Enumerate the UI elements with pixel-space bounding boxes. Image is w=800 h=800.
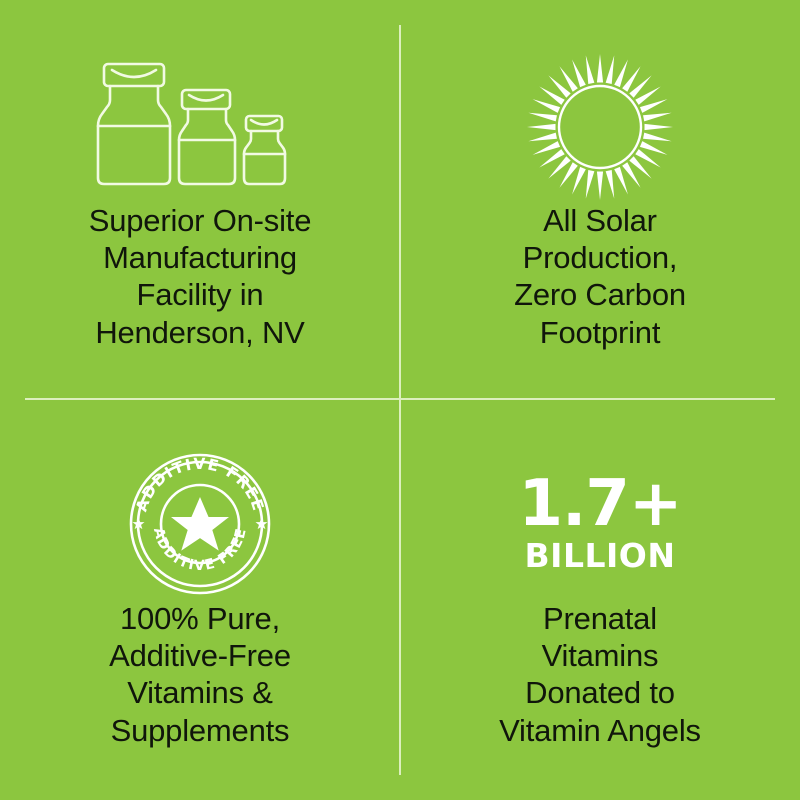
sun-ray xyxy=(643,110,672,122)
benefit-caption-manufacturing: Superior On-site Manufacturing Facility … xyxy=(89,202,312,351)
sun-ray xyxy=(643,133,672,145)
sun-ray xyxy=(597,172,603,201)
sun-ray xyxy=(527,124,556,130)
benefit-cell-additive-free: ADDITIVE FREE ADDITIVE FREE 100% Pure, A… xyxy=(0,400,400,800)
additive-free-badge-icon: ADDITIVE FREE ADDITIVE FREE xyxy=(125,449,275,599)
supplement-bottles-icon xyxy=(90,52,310,202)
sun-ray xyxy=(606,55,618,84)
sun-ray xyxy=(583,55,595,84)
donation-stat: 1.7+ BILLION xyxy=(519,448,682,600)
sun-ray xyxy=(606,170,618,199)
supplement-bottles-icon-wrap xyxy=(90,52,310,202)
benefit-caption-additive-free: 100% Pure, Additive-Free Vitamins & Supp… xyxy=(109,600,291,749)
benefits-panel: Superior On-site Manufacturing Facility … xyxy=(0,0,800,800)
additive-free-badge-icon-wrap: ADDITIVE FREE ADDITIVE FREE xyxy=(125,448,275,600)
benefit-cell-donations: 1.7+ BILLION Prenatal Vitamins Donated t… xyxy=(400,400,800,800)
sun-ray xyxy=(528,133,557,145)
sun-icon-wrap xyxy=(525,52,675,202)
sun-ray xyxy=(597,54,603,83)
benefit-caption-donations: Prenatal Vitamins Donated to Vitamin Ang… xyxy=(499,600,701,749)
benefit-caption-solar: All Solar Production, Zero Carbon Footpr… xyxy=(514,202,686,351)
sun-icon xyxy=(525,52,675,202)
sun-ray xyxy=(583,170,595,199)
benefits-grid: Superior On-site Manufacturing Facility … xyxy=(0,0,800,800)
star-icon-center xyxy=(171,497,229,551)
donation-stat-number: 1.7+ xyxy=(519,474,682,535)
benefit-cell-manufacturing: Superior On-site Manufacturing Facility … xyxy=(0,0,400,400)
sun-ray xyxy=(645,124,674,130)
sun-ray xyxy=(528,110,557,122)
benefit-cell-solar: All Solar Production, Zero Carbon Footpr… xyxy=(400,0,800,400)
donation-stat-unit: BILLION xyxy=(525,538,676,574)
